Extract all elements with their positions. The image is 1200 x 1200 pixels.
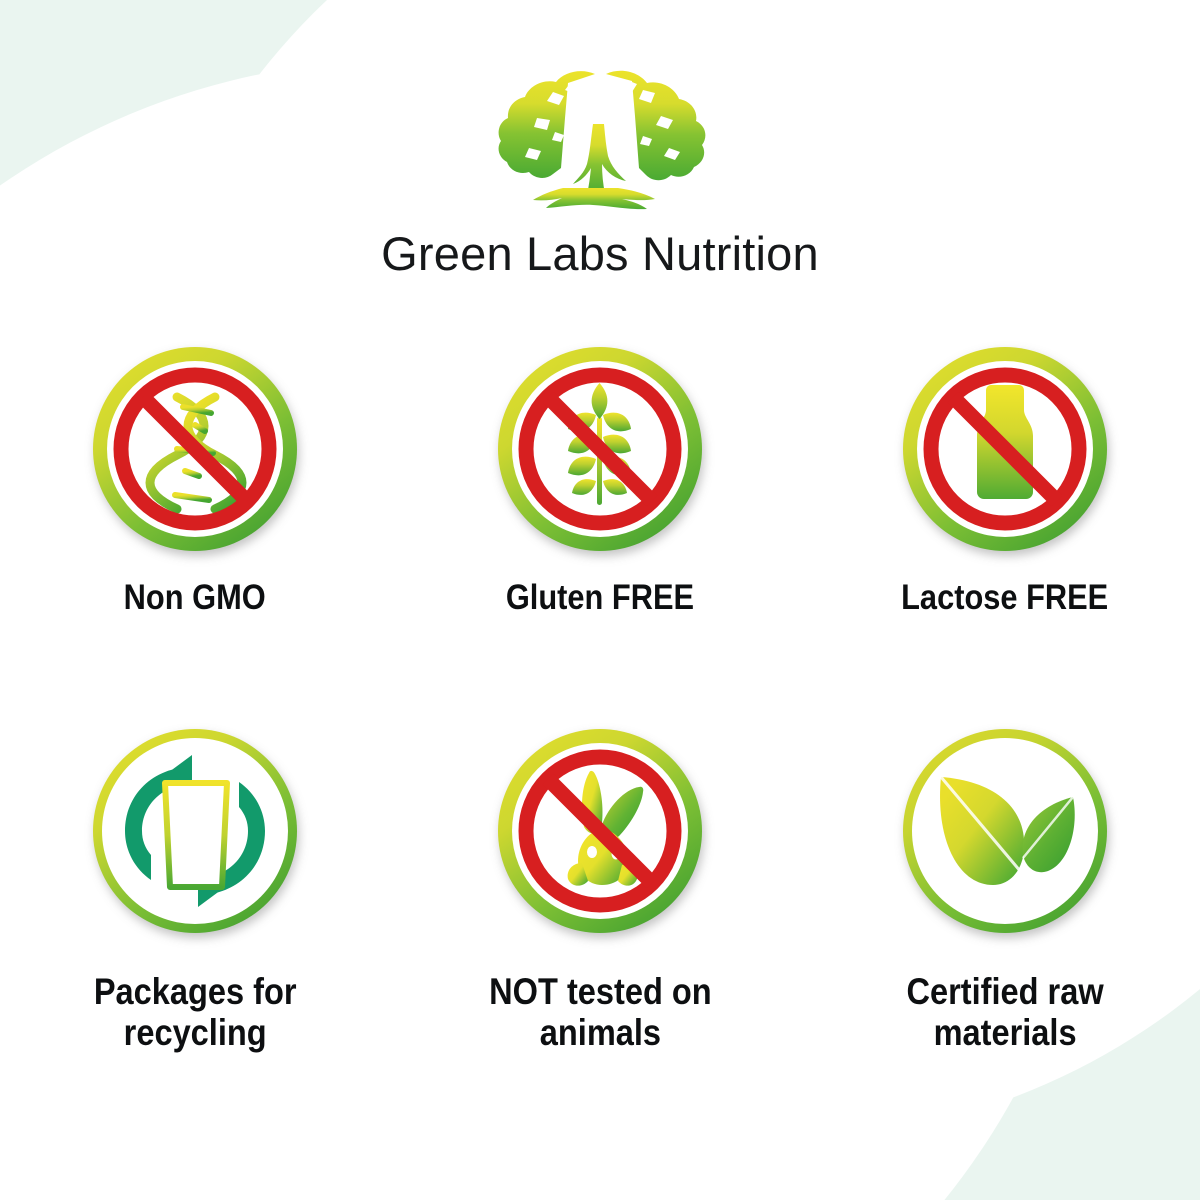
brand-logo xyxy=(0,62,1200,212)
badge-label-line2: animals xyxy=(489,1012,712,1053)
badge-icon-lactose-free[interactable] xyxy=(901,345,1109,553)
badge-label-line1: NOT tested on xyxy=(489,971,712,1012)
badge-non-gmo[interactable]: Non GMO xyxy=(60,345,330,617)
badge-label: Certified raw materials xyxy=(906,971,1103,1054)
badge-lactose-free[interactable]: Lactose FREE xyxy=(870,345,1140,617)
badge-label-line1: Packages for xyxy=(94,971,297,1012)
badge-label: Gluten FREE xyxy=(506,579,694,617)
badge-icon-not-tested-on-animals[interactable] xyxy=(496,727,704,935)
badge-label: NOT tested on animals xyxy=(489,971,712,1054)
badge-not-tested-on-animals[interactable]: NOT tested on animals xyxy=(465,727,735,1054)
brand-header: Green Labs Nutrition xyxy=(0,0,1200,281)
badge-icon-certified-raw-materials[interactable] xyxy=(901,727,1109,935)
badge-row-top: Non GMO xyxy=(0,345,1200,617)
badge-recycling[interactable]: Packages for recycling xyxy=(60,727,330,1054)
badge-label-line2: recycling xyxy=(94,1012,297,1053)
badge-label: Lactose FREE xyxy=(901,579,1108,617)
certification-grid: Non GMO xyxy=(0,345,1200,1054)
badge-icon-gluten-free[interactable] xyxy=(496,345,704,553)
badge-label: Packages for recycling xyxy=(94,971,297,1054)
badge-row-bottom: Packages for recycling xyxy=(0,727,1200,1054)
badge-icon-recycling[interactable] xyxy=(91,727,299,935)
badge-label: Non GMO xyxy=(124,579,266,617)
badge-certified-raw-materials[interactable]: Certified raw materials xyxy=(870,727,1140,1054)
page-title: Green Labs Nutrition xyxy=(0,226,1200,281)
tree-icon xyxy=(493,62,708,212)
badge-icon-non-gmo[interactable] xyxy=(91,345,299,553)
badge-label-line2: materials xyxy=(906,1012,1103,1053)
certification-poster: Green Labs Nutrition xyxy=(0,0,1200,1200)
badge-gluten-free[interactable]: Gluten FREE xyxy=(465,345,735,617)
badge-label-line1: Certified raw xyxy=(906,971,1103,1012)
